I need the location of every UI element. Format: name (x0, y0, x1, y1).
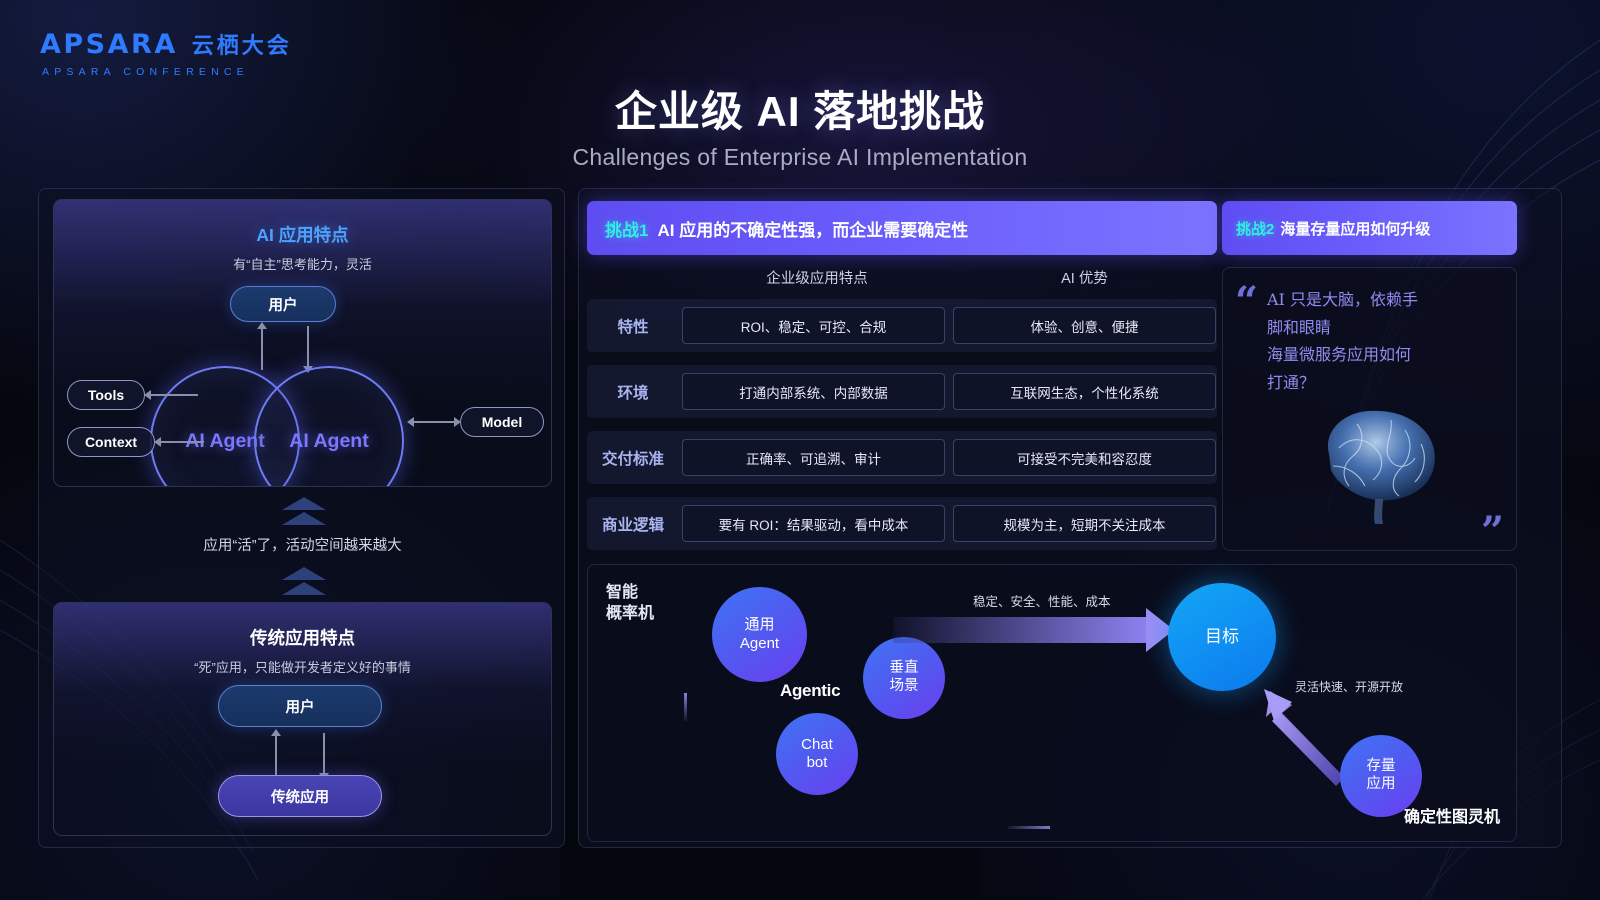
model-pill-label: Model (482, 414, 522, 430)
circle-vertical-line1: 垂直 (890, 660, 919, 678)
trad-app-pill-label: 传统应用 (271, 786, 329, 807)
arrow-up-to-user-head (257, 322, 267, 329)
table-row: 商业逻辑 要有 ROI：结果驱动，看中成本 规模为主，短期不关注成本 (587, 497, 1217, 550)
logo-chinese-text: 云栖大会 (192, 28, 292, 60)
circle-chatbot: Chat bot (776, 713, 858, 795)
table-cell-enterprise: 要有 ROI：结果驱动，看中成本 (682, 505, 945, 542)
challenge1-tag: 挑战1 (605, 216, 648, 241)
arrow-context-connector (158, 441, 204, 443)
table-cell-ai: 可接受不完美和容忍度 (953, 439, 1216, 476)
circle-general-agent: 通用 Agent (712, 587, 807, 682)
circle-vertical-scenario: 垂直 场景 (863, 637, 945, 719)
arrow-top-label: 稳定、安全、性能、成本 (973, 591, 1111, 610)
traditional-application-card: 传统应用特点 “死”应用，只能做开发者定义好的事情 用户 传统应用 (53, 602, 552, 836)
trad-arrow-down (323, 733, 325, 777)
chevron-up-bottom-2 (282, 582, 326, 595)
quote-panel: “ AI 只是大脑，依赖手 脚和眼睛 海量微服务应用如何 打通？ (1222, 267, 1517, 551)
ai-user-pill-label: 用户 (269, 294, 298, 315)
quote-line-4: 打通？ (1267, 369, 1499, 397)
trad-card-title: 传统应用特点 (54, 603, 551, 650)
challenge2-tag: 挑战2 (1236, 218, 1274, 239)
arrow-to-target (893, 617, 1148, 643)
diagram-right-label: 确定性图灵机 (1404, 803, 1500, 827)
arrow-tools-head (144, 390, 151, 400)
diagram-left-tick (684, 693, 687, 721)
circle-target-label: 目标 (1205, 627, 1239, 648)
ai-user-pill[interactable]: 用户 (230, 286, 336, 322)
context-pill-label: Context (85, 434, 137, 450)
comparison-table: 企业级应用特点 AI 优势 特性 ROI、稳定、可控、合规 体验、创意、便捷 环… (587, 267, 1217, 551)
table-row: 交付标准 正确率、可追溯、审计 可接受不完美和容忍度 (587, 431, 1217, 484)
table-cell-ai: 互联网生态，个性化系统 (953, 373, 1216, 410)
trad-card-subtitle: “死”应用，只能做开发者定义好的事情 (54, 657, 551, 676)
apsara-logo: APSARA 云栖大会 APSARA CONFERENCE (40, 28, 292, 78)
arrow-down-from-user (307, 326, 309, 370)
diagram-left-label: 智能 概率机 (606, 583, 654, 625)
chevron-up-top (282, 497, 326, 510)
agentic-label: Agentic (780, 681, 840, 701)
challenge1-text: AI 应用的不确定性强，而企业需要确定性 (657, 216, 968, 241)
trad-arrow-up-head (271, 729, 281, 736)
table-col2-header: AI 优势 (952, 267, 1217, 288)
diagram-bottom-tick (1008, 826, 1050, 829)
left-panel: AI 应用特点 有“自主”思考能力，灵活 用户 AI Agent AI Agen… (38, 188, 565, 848)
circle-legacy-line2: 应用 (1367, 776, 1396, 794)
arrow-tools-connector (148, 394, 198, 396)
diagram-left-label-line2: 概率机 (606, 604, 654, 625)
table-row-label: 商业逻辑 (587, 513, 679, 535)
trad-app-pill[interactable]: 传统应用 (218, 775, 382, 817)
table-row-label: 特性 (587, 315, 679, 337)
table-row: 环境 打通内部系统、内部数据 互联网生态，个性化系统 (587, 365, 1217, 418)
logo-conference-text: APSARA CONFERENCE (40, 66, 292, 78)
quote-text: AI 只是大脑，依赖手 脚和眼睛 海量微服务应用如何 打通？ (1267, 286, 1499, 396)
circle-target: 目标 (1168, 583, 1276, 691)
circle-general-agent-line1: 通用 (740, 616, 779, 634)
circle-chatbot-line1: Chat (801, 736, 833, 754)
arrow-up-to-user (261, 326, 263, 370)
quote-open-mark: “ (1235, 282, 1258, 322)
ai-application-card: AI 应用特点 有“自主”思考能力，灵活 用户 AI Agent AI Agen… (53, 199, 552, 487)
table-cell-ai: 体验、创意、便捷 (953, 307, 1216, 344)
ai-card-content: AI 应用特点 有“自主”思考能力，灵活 用户 AI Agent AI Agen… (54, 200, 551, 273)
table-cell-enterprise: ROI、稳定、可控、合规 (682, 307, 945, 344)
table-row: 特性 ROI、稳定、可控、合规 体验、创意、便捷 (587, 299, 1217, 352)
page-title: 企业级 AI 落地挑战 (0, 78, 1600, 139)
brain-illustration-icon (1305, 396, 1455, 526)
middle-note: 应用“活”了，活动空间越来越大 (39, 534, 566, 555)
table-col1-header: 企业级应用特点 (682, 267, 952, 288)
arrow-context-head (154, 437, 161, 447)
challenge1-banner: 挑战1 AI 应用的不确定性强，而企业需要确定性 (587, 201, 1217, 255)
tools-pill[interactable]: Tools (67, 380, 145, 410)
table-row-label: 环境 (587, 381, 679, 403)
quote-line-3: 海量微服务应用如何 (1267, 341, 1499, 369)
ai-card-subtitle: 有“自主”思考能力，灵活 (54, 254, 551, 273)
arrow-model-connector (411, 421, 457, 423)
challenge2-text: 海量存量应用如何升级 (1280, 218, 1430, 239)
circle-chatbot-line2: bot (801, 754, 833, 772)
quote-line-2: 脚和眼睛 (1267, 314, 1499, 342)
trad-user-pill-label: 用户 (286, 696, 315, 717)
table-cell-enterprise: 打通内部系统、内部数据 (682, 373, 945, 410)
agentic-diagram: 智能 概率机 通用 Agent 垂直 场景 Chat bot Agentic 稳… (587, 564, 1517, 842)
diagram-left-label-line1: 智能 (606, 583, 654, 604)
model-pill[interactable]: Model (460, 407, 544, 437)
quote-close-mark: ” (1481, 512, 1504, 551)
tools-pill-label: Tools (88, 387, 124, 403)
challenge2-banner: 挑战2 海量存量应用如何升级 (1222, 201, 1517, 255)
right-panel: 挑战1 AI 应用的不确定性强，而企业需要确定性 挑战2 海量存量应用如何升级 … (578, 188, 1562, 848)
table-cell-ai: 规模为主，短期不关注成本 (953, 505, 1216, 542)
quote-line-1: AI 只是大脑，依赖手 (1267, 286, 1499, 314)
ai-agent-right-label: AI Agent (289, 430, 368, 453)
circle-general-agent-line2: Agent (740, 635, 779, 653)
chevron-up-bottom (282, 567, 326, 580)
page-subtitle: Challenges of Enterprise AI Implementati… (0, 144, 1600, 171)
circle-vertical-line2: 场景 (890, 678, 919, 696)
circle-legacy-line1: 存量 (1367, 758, 1396, 776)
chevron-up-top-2 (282, 512, 326, 525)
arrow-model-head-right (454, 417, 461, 427)
table-row-label: 交付标准 (587, 447, 679, 469)
ai-card-title: AI 应用特点 (54, 200, 551, 247)
trad-user-pill[interactable]: 用户 (218, 685, 382, 727)
trad-card-content: 传统应用特点 “死”应用，只能做开发者定义好的事情 用户 传统应用 (54, 603, 551, 676)
logo-apsara-text: APSARA (40, 29, 178, 60)
trad-arrow-up (275, 733, 277, 777)
arrow-model-head-left (407, 417, 414, 427)
table-cell-enterprise: 正确率、可追溯、审计 (682, 439, 945, 476)
context-pill[interactable]: Context (67, 427, 155, 457)
